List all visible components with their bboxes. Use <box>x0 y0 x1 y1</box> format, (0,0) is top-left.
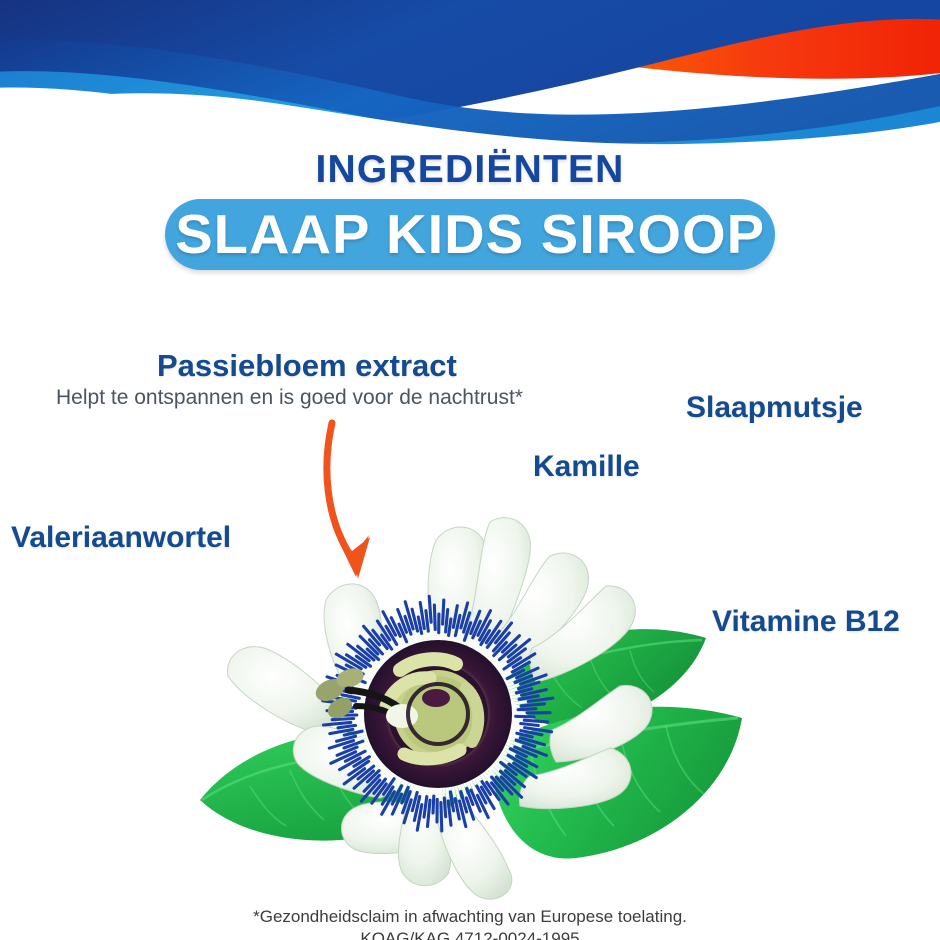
footer-disclaimer: *Gezondheidsclaim in afwachting van Euro… <box>0 906 940 940</box>
footer-line-claim: *Gezondheidsclaim in afwachting van Euro… <box>0 906 940 928</box>
product-name-label: SLAAP KIDS SIROOP <box>175 207 765 262</box>
ingredient-label-kamille: Kamille <box>533 450 640 484</box>
ingredient-label-slaapmutsje: Slaapmutsje <box>686 391 863 425</box>
header-wave-banner <box>0 0 940 150</box>
footer-line-koag: KOAG/KAG 4712-0024-1995 <box>0 928 940 940</box>
ingredient-description-passiebloem: Helpt te ontspannen en is goed voor de n… <box>56 386 523 410</box>
product-name-pill: SLAAP KIDS SIROOP <box>165 199 775 270</box>
passion-flower-artwork <box>190 500 750 905</box>
ingredient-label-passiebloem: Passiebloem extract <box>157 348 457 384</box>
page-title-kicker: INGREDIËNTEN <box>0 148 940 192</box>
ingredients-poster: INGREDIËNTEN SLAAP KIDS SIROOP Passieblo… <box>0 0 940 940</box>
